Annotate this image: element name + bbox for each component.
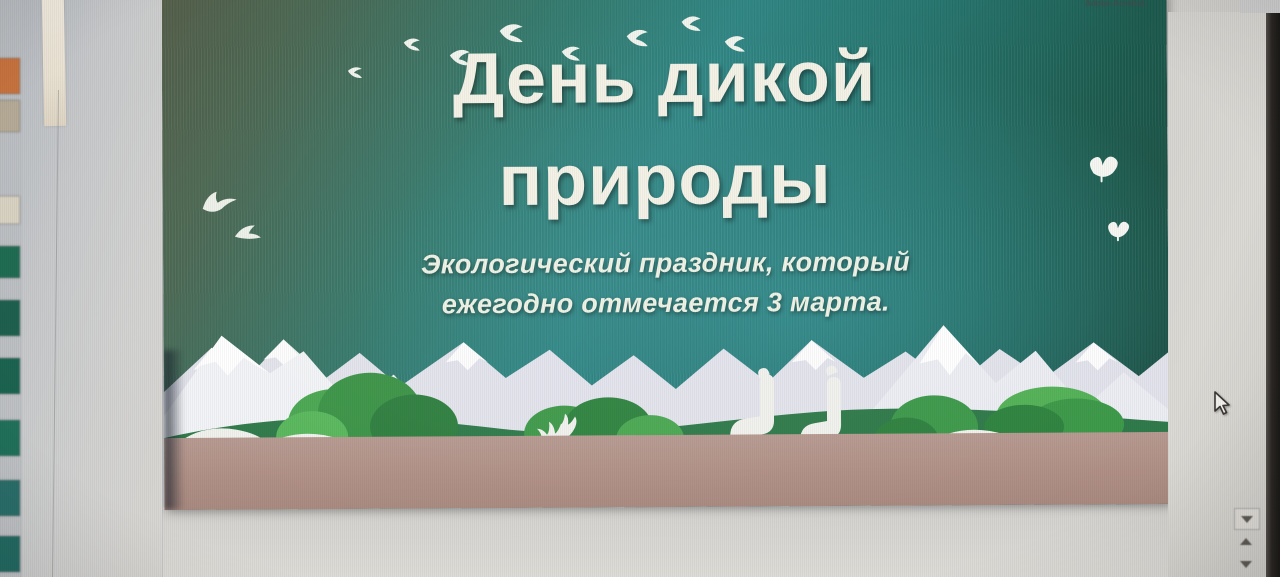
slide-title-line2: природы: [162, 141, 1167, 219]
triangle-up-icon-page-up[interactable]: [1234, 531, 1258, 551]
slide-thumbnail-7[interactable]: [0, 420, 20, 456]
slide-thumbnail-9[interactable]: [0, 536, 20, 572]
slide-thumbnail-2[interactable]: [0, 100, 20, 132]
slide-thumbnail-1[interactable]: [0, 58, 20, 94]
right-application-panel: [1168, 12, 1266, 577]
slide-thumbnail-4[interactable]: [0, 246, 20, 278]
desktop-area-below-slide: [163, 507, 1168, 577]
slide-thumbnail-6[interactable]: [0, 358, 20, 394]
slide-subtitle-line1: Экологический праздник, который: [163, 245, 1168, 282]
cream-paper-strip: [42, 0, 66, 126]
slide-edge-shadow: [164, 350, 185, 510]
slide-thumbnail-3[interactable]: [0, 196, 20, 224]
slide-title-line1: День дикой: [162, 39, 1167, 117]
slide-subtitle-line2: ежегодно отмечается 3 марта.: [163, 285, 1168, 322]
triangle-down-icon-previous[interactable]: [1234, 508, 1260, 530]
scroll-controls[interactable]: [1234, 508, 1260, 574]
arrow-cursor-icon: [1213, 391, 1231, 417]
window-right-bezel: [1266, 12, 1280, 577]
slide-thumbnail-8[interactable]: [0, 480, 20, 516]
triangle-down-icon-next[interactable]: [1234, 554, 1258, 574]
slide-thumbnail-5[interactable]: [0, 300, 20, 336]
monitor-screen-photo: Adobe Acrobat: [0, 0, 1280, 577]
top-menu-bar[interactable]: Adobe Acrobat: [1085, 0, 1245, 9]
window-top-right-corner: [1240, 0, 1280, 13]
slide-thumbnail-panel[interactable]: [0, 0, 26, 577]
menu-item-adobe-acrobat[interactable]: Adobe Acrobat: [1085, 0, 1245, 9]
presentation-slide[interactable]: День дикой природы Экологический праздни…: [161, 0, 1169, 510]
